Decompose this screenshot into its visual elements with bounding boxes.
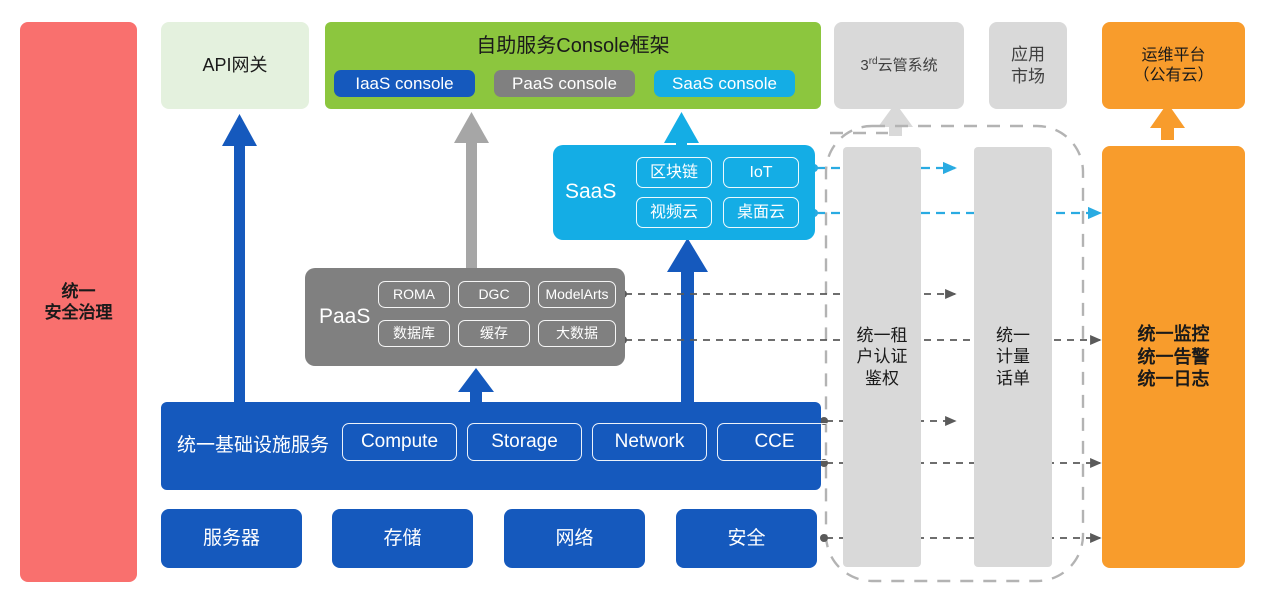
ops-platform-box[interactable]: 运维平台 （公有云）	[1102, 22, 1245, 109]
paas-panel[interactable]: PaaS ROMA DGC ModelArts 数据库 缓存 大数据	[305, 268, 625, 366]
infra-service-storage[interactable]: Storage	[467, 423, 582, 461]
hardware-box-network[interactable]: 网络	[504, 509, 645, 568]
saas-service-blockchain[interactable]: 区块链	[636, 157, 712, 188]
third-party-cloud-label: 3rd云管系统	[860, 56, 937, 76]
paas-service-roma-label: ROMA	[393, 286, 435, 304]
saas-service-blockchain-label: 区块链	[650, 163, 698, 183]
saas-service-iot-label: IoT	[749, 163, 772, 183]
saas-service-videocloud-label: 视频云	[650, 203, 698, 223]
infra-service-cce[interactable]: CCE	[717, 423, 832, 461]
console-framework-panel[interactable]: 自助服务Console框架 IaaS console PaaS console …	[325, 22, 821, 109]
unified-security-label: 统一 安全治理	[45, 281, 113, 324]
shared-column-auth[interactable]: 统一租 户认证 鉴权	[843, 147, 921, 567]
console-button-iaas[interactable]: IaaS console	[334, 70, 475, 97]
paas-service-dgc-label: DGC	[478, 286, 509, 304]
infra-service-compute[interactable]: Compute	[342, 423, 457, 461]
saas-service-desktopcloud-label: 桌面云	[737, 203, 785, 223]
paas-service-roma[interactable]: ROMA	[378, 281, 450, 308]
hardware-box-security[interactable]: 安全	[676, 509, 817, 568]
console-button-paas[interactable]: PaaS console	[494, 70, 635, 97]
paas-service-cache[interactable]: 缓存	[458, 320, 530, 347]
infra-service-network-label: Network	[615, 430, 685, 454]
arrow-infra-to-apigw	[214, 114, 257, 408]
ops-platform-label: 运维平台 （公有云）	[1133, 46, 1213, 86]
saas-panel[interactable]: SaaS 区块链 IoT 视频云 桌面云	[553, 145, 815, 240]
console-framework-title: 自助服务Console框架	[325, 34, 821, 59]
paas-service-modelarts[interactable]: ModelArts	[538, 281, 616, 308]
paas-service-cache-label: 缓存	[480, 325, 508, 343]
hardware-box-storage[interactable]: 存储	[332, 509, 473, 568]
shared-column-metering[interactable]: 统一 计量 话单	[974, 147, 1052, 567]
console-button-iaas-label: IaaS console	[355, 73, 453, 94]
saas-panel-label: SaaS	[565, 145, 616, 240]
api-gateway-box[interactable]: API网关	[161, 22, 309, 109]
third-party-cloud-box[interactable]: 3rd云管系统	[834, 22, 964, 109]
paas-service-bigdata-label: 大数据	[556, 325, 598, 343]
hardware-box-storage-label: 存储	[383, 527, 421, 551]
architecture-diagram: 统一 安全治理 API网关 自助服务Console框架 IaaS console…	[0, 0, 1265, 605]
shared-column-auth-label: 统一租 户认证 鉴权	[857, 325, 908, 389]
infrastructure-panel[interactable]: 统一基础设施服务 Compute Storage Network CCE	[161, 402, 821, 490]
paas-service-database[interactable]: 数据库	[378, 320, 450, 347]
paas-service-database-label: 数据库	[393, 325, 435, 343]
hardware-box-server-label: 服务器	[203, 527, 260, 551]
saas-service-iot[interactable]: IoT	[723, 157, 799, 188]
console-button-paas-label: PaaS console	[512, 73, 617, 94]
console-button-saas[interactable]: SaaS console	[654, 70, 795, 97]
monitoring-panel-label: 统一监控 统一告警 统一日志	[1138, 323, 1210, 391]
paas-service-modelarts-label: ModelArts	[545, 286, 608, 304]
paas-panel-label: PaaS	[319, 268, 370, 366]
saas-service-desktopcloud[interactable]: 桌面云	[723, 197, 799, 228]
app-market-box[interactable]: 应用 市场	[989, 22, 1067, 109]
paas-service-bigdata[interactable]: 大数据	[538, 320, 616, 347]
infra-service-storage-label: Storage	[491, 430, 558, 454]
api-gateway-label: API网关	[202, 54, 267, 77]
hardware-box-server[interactable]: 服务器	[161, 509, 302, 568]
hardware-box-security-label: 安全	[727, 527, 765, 551]
saas-service-videocloud[interactable]: 视频云	[636, 197, 712, 228]
arrow-paas-to-console	[454, 112, 489, 270]
paas-service-dgc[interactable]: DGC	[458, 281, 530, 308]
infra-service-cce-label: CCE	[754, 430, 794, 454]
console-button-saas-label: SaaS console	[672, 73, 777, 94]
arrow-infra-to-saas	[667, 238, 708, 408]
infrastructure-label: 统一基础设施服务	[177, 402, 329, 490]
infra-service-compute-label: Compute	[361, 430, 438, 454]
hardware-box-network-label: 网络	[555, 527, 593, 551]
app-market-label: 应用 市场	[1011, 44, 1045, 87]
infra-service-network[interactable]: Network	[592, 423, 707, 461]
monitoring-panel[interactable]: 统一监控 统一告警 统一日志	[1102, 146, 1245, 568]
shared-column-metering-label: 统一 计量 话单	[996, 325, 1030, 389]
unified-security-panel[interactable]: 统一 安全治理	[20, 22, 137, 582]
